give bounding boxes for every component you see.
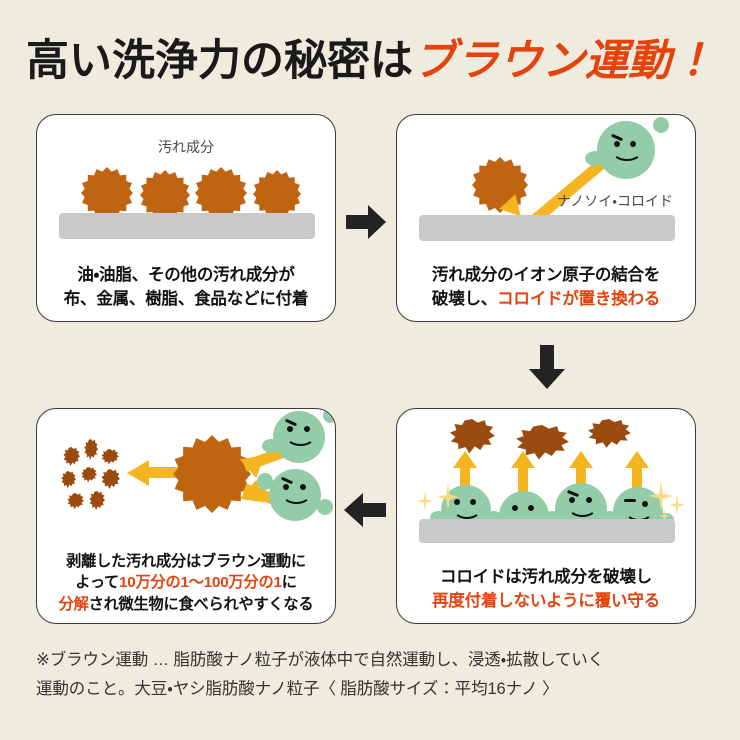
panel-step-4-caption: 剥離した汚れ成分はブラウン運動に よって10万分の1〜100万分の1に 分解され…	[37, 551, 335, 615]
panel-step-2-caption: 汚れ成分のイオン原子の結合を 破壊し、コロイドが置き換わる	[397, 264, 695, 311]
dirt-fragment	[63, 447, 80, 467]
caption-plain: よって	[75, 574, 119, 591]
panel-step-2: ナノソイ・コロイド 汚れ成分のイオン原子の結合を 破壊し、コロイドが置き換わる	[396, 114, 696, 322]
colloid-character	[273, 411, 325, 463]
dirt-fragment	[101, 449, 119, 465]
caption-plain: に	[282, 574, 297, 591]
panel-step-1-diagram: 汚れ成分	[37, 115, 335, 243]
arrow-step1-to-step2	[346, 205, 386, 239]
panel-step-1-caption: 油・油脂、その他の汚れ成分が 布、金属、樹脂、食品などに付着	[37, 264, 335, 311]
caption-line: 破壊し、コロイドが置き換わる	[397, 288, 695, 311]
title-plain: 高い洗浄力の秘密は	[26, 37, 413, 85]
colloid-character	[269, 469, 321, 521]
title-accent: ブラウン運動！	[413, 37, 714, 85]
dirt-fragment	[89, 491, 105, 511]
page-title: 高い洗浄力の秘密はブラウン運動！	[0, 26, 740, 88]
panel-step-4: 剥離した汚れ成分はブラウン運動に よって10万分の1〜100万分の1に 分解され…	[36, 408, 336, 624]
dirt-fragment	[84, 439, 98, 461]
arrow-step2-to-step3	[529, 345, 565, 389]
caption-line: 分解され微生物に食べられやすくなる	[37, 594, 335, 615]
substrate-surface	[59, 213, 315, 239]
yellow-arrow-up	[625, 451, 649, 491]
caption-highlight: 分解	[59, 596, 89, 613]
colloid-character	[597, 121, 655, 179]
caption-line: 油・油脂、その他の汚れ成分が	[37, 264, 335, 287]
dirt-fragment	[101, 469, 120, 490]
caption-line: コロイドは汚れ成分を破壊し	[397, 566, 695, 589]
sparkle-icon	[669, 495, 685, 515]
caption-highlight: 再度付着しないように覆い守る	[397, 590, 695, 613]
infographic-root: 高い洗浄力の秘密はブラウン運動！ 汚れ成分 油・油脂、その他の汚れ成分が 布、金…	[0, 0, 740, 740]
panel-step-1: 汚れ成分 油・油脂、その他の汚れ成分が 布、金属、樹脂、食品などに付着	[36, 114, 336, 322]
caption-plain: 破壊し、	[432, 290, 497, 308]
panel-step-4-diagram	[37, 409, 335, 533]
dirt-fragment	[81, 467, 97, 483]
dirt-fragment	[67, 493, 84, 510]
substrate-surface	[419, 215, 675, 241]
dirt-fragment	[61, 471, 76, 489]
dirt-burst	[195, 167, 247, 219]
yellow-arrow-up	[511, 451, 535, 491]
caption-line: 汚れ成分のイオン原子の結合を	[397, 264, 695, 287]
caption-line: 布、金属、樹脂、食品などに付着	[37, 288, 335, 311]
panel-step-2-diagram: ナノソイ・コロイド	[397, 115, 695, 243]
caption-highlight: コロイドが置き換わる	[497, 290, 660, 308]
detached-dirt-blob	[587, 419, 631, 449]
nanosoy-colloid-label: ナノソイ・コロイド	[557, 191, 673, 211]
dirt-burst	[253, 170, 301, 218]
detached-dirt-blob	[449, 419, 495, 455]
arrow-step3-to-step4	[344, 493, 386, 527]
dirt-burst-large	[173, 435, 251, 513]
caption-plain: され微生物に食べられやすくなる	[89, 596, 314, 613]
panel-step-3: コロイドは汚れ成分を破壊し 再度付着しないように覆い守る	[396, 408, 696, 624]
panel-step-3-diagram	[397, 409, 695, 533]
dirt-component-label: 汚れ成分	[158, 137, 214, 157]
footnote: ※ブラウン運動 … 脂肪酸ナノ粒子が液体中で自然運動し、浸透・拡散していく 運動…	[36, 646, 708, 704]
dirt-burst	[81, 167, 133, 219]
panel-step-3-caption: コロイドは汚れ成分を破壊し 再度付着しないように覆い守る	[397, 566, 695, 613]
footnote-line: 運動のこと。大豆・ヤシ脂肪酸ナノ粒子〈 脂肪酸サイズ：平均16ナノ 〉	[36, 675, 708, 704]
caption-line: 剥離した汚れ成分はブラウン運動に	[37, 551, 335, 572]
caption-line: よって10万分の1〜100万分の1に	[37, 572, 335, 593]
sparkle-icon	[417, 491, 433, 511]
caption-highlight: 10万分の1〜100万分の1	[119, 574, 282, 591]
yellow-arrow-head	[127, 460, 149, 486]
footnote-line: ※ブラウン運動 … 脂肪酸ナノ粒子が液体中で自然運動し、浸透・拡散していく	[36, 646, 708, 675]
substrate-surface	[419, 519, 675, 543]
